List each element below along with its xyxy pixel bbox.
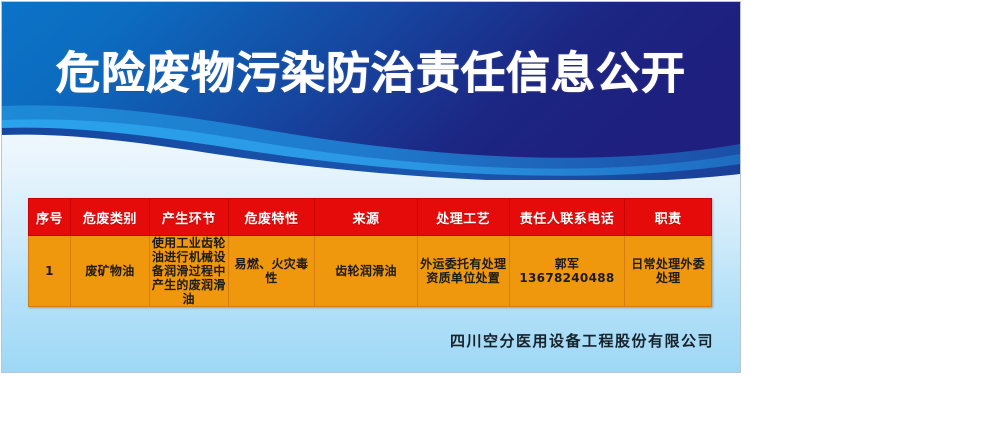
cell-index: 1 [29, 236, 71, 307]
cell-duty: 日常处理外委处理 [625, 236, 712, 307]
contact-phone-number: 13678240488 [512, 271, 623, 285]
cell-property: 易燃、火灾毒性 [228, 236, 315, 307]
column-header-process: 处理工艺 [417, 199, 509, 236]
column-header-duty: 职责 [625, 199, 712, 236]
cell-stage: 使用工业齿轮油进行机械设备润滑过程中产生的废润滑油 [149, 236, 228, 307]
cell-source: 齿轮润滑油 [315, 236, 417, 307]
column-header-property: 危废特性 [228, 199, 315, 236]
column-header-category: 危废类别 [71, 199, 150, 236]
poster-banner: 危险废物污染防治责任信息公开 [2, 2, 740, 180]
cell-category: 废矿物油 [71, 236, 150, 307]
hazardous-waste-table: 序号 危废类别 产生环节 危废特性 来源 处理工艺 责任人联系电话 职责 1 废… [28, 198, 712, 307]
table-header-row: 序号 危废类别 产生环节 危废特性 来源 处理工艺 责任人联系电话 职责 [29, 199, 712, 236]
table-row: 1 废矿物油 使用工业齿轮油进行机械设备润滑过程中产生的废润滑油 易燃、火灾毒性… [29, 236, 712, 307]
column-header-source: 来源 [315, 199, 417, 236]
cell-contact: 郭军 13678240488 [509, 236, 625, 307]
column-header-contact: 责任人联系电话 [509, 199, 625, 236]
information-disclosure-poster: 危险废物污染防治责任信息公开 序号 危废类别 产生环节 危废特性 来源 处理工艺… [2, 2, 740, 372]
column-header-index: 序号 [29, 199, 71, 236]
company-name: 四川空分医用设备工程股份有限公司 [2, 330, 714, 351]
page-title: 危险废物污染防治责任信息公开 [2, 49, 740, 99]
contact-person-name: 郭军 [512, 257, 623, 271]
cell-process: 外运委托有处理资质单位处置 [417, 236, 509, 307]
column-header-stage: 产生环节 [149, 199, 228, 236]
